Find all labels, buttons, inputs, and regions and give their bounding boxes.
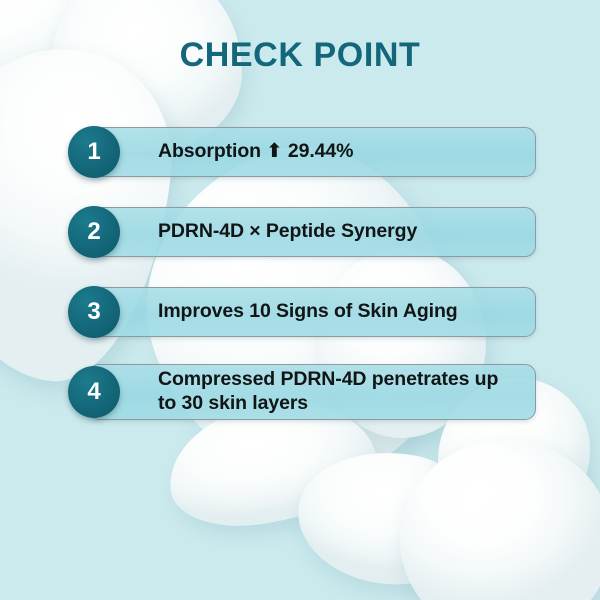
- checkpoint-label-4: Compressed PDRN-4D penetrates up to 30 s…: [158, 368, 535, 416]
- checkpoint-number-badge-3: 3: [68, 286, 120, 338]
- checkpoint-pill-4: Compressed PDRN-4D penetrates up to 30 s…: [88, 364, 536, 420]
- checkpoint-label-2: PDRN-4D × Peptide Synergy: [158, 220, 431, 244]
- check-point-poster: CHECK POINT Absorption ⬆ 29.44% 1 PDRN-4…: [0, 0, 600, 600]
- checkpoint-number-badge-1: 1: [68, 126, 120, 178]
- checkpoint-pill-1: Absorption ⬆ 29.44%: [88, 127, 536, 177]
- checkpoint-pill-2: PDRN-4D × Peptide Synergy: [88, 207, 536, 257]
- checkpoint-number-badge-4: 4: [68, 366, 120, 418]
- checkpoint-number-badge-2: 2: [68, 206, 120, 258]
- poster-content: CHECK POINT Absorption ⬆ 29.44% 1 PDRN-4…: [0, 0, 600, 600]
- checkpoint-pill-3: Improves 10 Signs of Skin Aging: [88, 287, 536, 337]
- checkpoint-label-3: Improves 10 Signs of Skin Aging: [158, 300, 472, 324]
- page-title: CHECK POINT: [0, 36, 600, 75]
- checkpoint-label-1: Absorption ⬆ 29.44%: [158, 140, 367, 164]
